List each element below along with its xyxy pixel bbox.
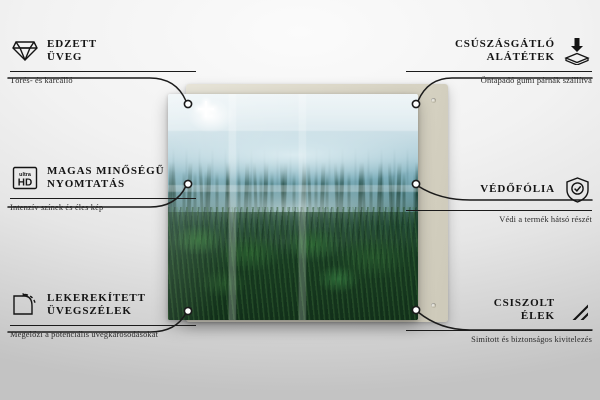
feature-title-line: CSÚSZÁSGÁTLÓ bbox=[455, 38, 555, 51]
feature-polished-edges: CSISZOLT ÉLEK Simított és biztonságos ki… bbox=[406, 295, 592, 346]
feature-title-line: MAGAS MINŐSÉGŰ bbox=[47, 165, 164, 178]
press-pad-icon bbox=[562, 36, 592, 66]
feature-subtitle: Simított és biztonságos kivitelezés bbox=[406, 335, 592, 346]
feature-tempered-glass: EDZETT ÜVEG Törés- és karcálló bbox=[10, 36, 196, 87]
forest-artwork bbox=[168, 94, 418, 320]
sun-flare bbox=[188, 99, 234, 133]
feature-title-line: EDZETT bbox=[47, 38, 97, 51]
shield-check-icon bbox=[562, 175, 592, 205]
feature-divider bbox=[10, 325, 196, 326]
feature-anti-slip-pads: CSÚSZÁSGÁTLÓ ALÁTÉTEK Öntapadó gumi párn… bbox=[406, 36, 592, 87]
feature-title-line: ÉLEK bbox=[494, 310, 555, 323]
feature-title-line: VÉDŐFÓLIA bbox=[480, 183, 555, 196]
feature-high-quality-print: ultra HD MAGAS MINŐSÉGŰ NYOMTATÁS Intenz… bbox=[10, 163, 196, 214]
mounting-hole-top-right bbox=[431, 98, 436, 103]
rounded-corner-icon bbox=[10, 290, 40, 320]
glass-panel bbox=[168, 94, 418, 320]
feature-subtitle: Védi a termék hátsó részét bbox=[406, 215, 592, 226]
hatched-edge-icon bbox=[562, 295, 592, 325]
feature-subtitle: Megelőzi a potenciális üvegkárosodásokat bbox=[10, 330, 196, 341]
feature-divider bbox=[10, 71, 196, 72]
feature-subtitle: Törés- és karcálló bbox=[10, 76, 196, 87]
ultra-hd-badge-icon: ultra HD bbox=[10, 163, 40, 193]
feature-rounded-glass-edges: LEKEREKÍTETT ÜVEGSZÉLEK Megelőzi a poten… bbox=[10, 290, 196, 341]
feature-protective-film: VÉDŐFÓLIA Védi a termék hátsó részét bbox=[406, 175, 592, 226]
feature-divider bbox=[406, 210, 592, 211]
feature-title-line: LEKEREKÍTETT bbox=[47, 292, 146, 305]
feature-divider bbox=[10, 198, 196, 199]
feature-title-line: ÜVEG bbox=[47, 51, 97, 64]
feature-title-line: NYOMTATÁS bbox=[47, 178, 164, 191]
diamond-icon bbox=[10, 36, 40, 66]
feature-subtitle: Intenzív színek és éles kép bbox=[10, 203, 196, 214]
canopy-texture bbox=[168, 207, 418, 320]
fog-band-upper bbox=[168, 126, 418, 185]
feature-divider bbox=[406, 330, 592, 331]
feature-title-line: CSISZOLT bbox=[494, 297, 555, 310]
feature-title-line: ALÁTÉTEK bbox=[455, 51, 555, 64]
product-feature-infographic: EDZETT ÜVEG Törés- és karcálló ultra HD … bbox=[0, 0, 600, 400]
feature-divider bbox=[406, 71, 592, 72]
badge-large-text: HD bbox=[18, 178, 32, 189]
feature-title-line: ÜVEGSZÉLEK bbox=[47, 305, 146, 318]
feature-subtitle: Öntapadó gumi párnák szállítva bbox=[406, 76, 592, 87]
